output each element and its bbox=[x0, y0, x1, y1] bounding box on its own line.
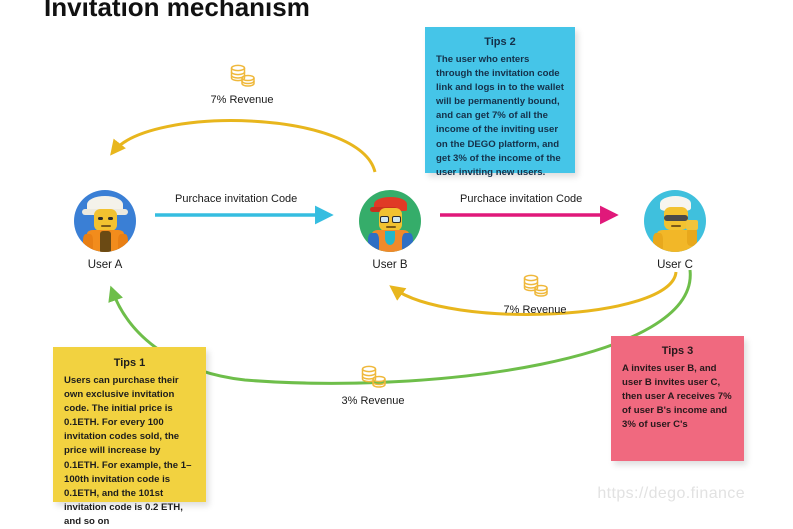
avatar-user-b bbox=[359, 190, 421, 252]
revenue-marker-bottom: 3% Revenue bbox=[313, 363, 433, 407]
revenue-text-top: 7% Revenue bbox=[182, 94, 302, 106]
tips-card-3-title: Tips 3 bbox=[622, 345, 733, 357]
revenue-marker-mid: 7% Revenue bbox=[465, 272, 605, 316]
arrow-b-to-a bbox=[113, 121, 375, 172]
node-label-user-a: User A bbox=[45, 259, 165, 271]
avatar-user-a bbox=[74, 190, 136, 252]
tips-card-1: Tips 1 Users can purchase their own excl… bbox=[53, 347, 206, 502]
revenue-text-bottom: 3% Revenue bbox=[313, 395, 433, 407]
tips-card-3-body: A invites user B, and user B invites use… bbox=[622, 362, 733, 432]
diagram-canvas: Invitation mechanism bbox=[0, 0, 793, 512]
edge-label-a-to-b: Purchace invitation Code bbox=[175, 193, 297, 205]
node-label-user-c: User C bbox=[615, 259, 735, 271]
coin-stack-icon bbox=[356, 363, 390, 391]
revenue-text-mid: 7% Revenue bbox=[465, 304, 605, 316]
tips-card-2-title: Tips 2 bbox=[436, 36, 564, 48]
node-label-user-b: User B bbox=[330, 259, 450, 271]
edge-label-b-to-c: Purchace invitation Code bbox=[460, 193, 582, 205]
tips-card-1-title: Tips 1 bbox=[64, 357, 195, 369]
node-user-a[interactable]: User A bbox=[45, 190, 165, 271]
node-user-c[interactable]: User C bbox=[615, 190, 735, 271]
avatar-user-c bbox=[644, 190, 706, 252]
watermark-url: https://dego.finance bbox=[597, 485, 745, 503]
tips-card-1-body: Users can purchase their own exclusive i… bbox=[64, 374, 195, 529]
node-user-b[interactable]: User B bbox=[330, 190, 450, 271]
coin-stack-icon bbox=[225, 62, 259, 90]
tips-card-3: Tips 3 A invites user B, and user B invi… bbox=[611, 336, 744, 461]
revenue-marker-top: 7% Revenue bbox=[182, 62, 302, 106]
coin-stack-icon bbox=[518, 272, 552, 300]
tips-card-2-body: The user who enters through the invitati… bbox=[436, 53, 564, 180]
tips-card-2: Tips 2 The user who enters through the i… bbox=[425, 27, 575, 173]
